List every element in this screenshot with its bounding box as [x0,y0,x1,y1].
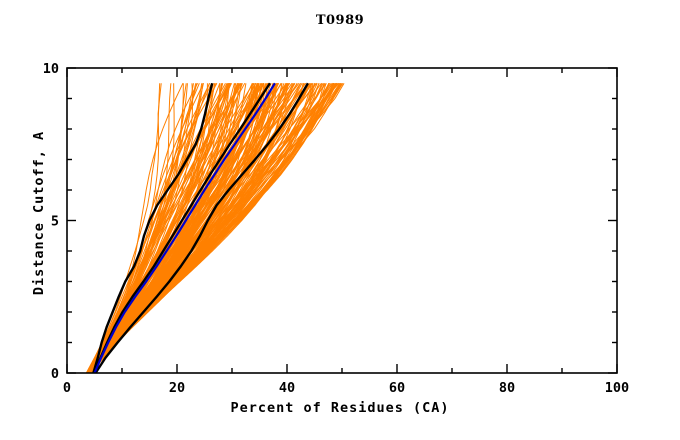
x-tick-label: 100 [605,380,629,396]
x-axis-label: Percent of Residues (CA) [0,400,680,416]
y-axis-label: Distance Cutoff, A [31,88,47,338]
chart-figure: T0989 0204060801000510 Distance Cutoff, … [0,0,680,440]
x-tick-label: 0 [63,380,71,396]
x-tick-label: 80 [499,380,515,396]
ensemble-curves [86,83,344,373]
plot-canvas: 0204060801000510 [0,0,680,440]
y-tick-label: 5 [51,214,59,230]
x-tick-label: 40 [279,380,295,396]
x-tick-label: 20 [169,380,185,396]
x-tick-label: 60 [389,380,405,396]
y-tick-label: 0 [51,366,59,382]
plot-svg: 0204060801000510 [0,0,680,440]
y-tick-label: 10 [43,61,59,77]
